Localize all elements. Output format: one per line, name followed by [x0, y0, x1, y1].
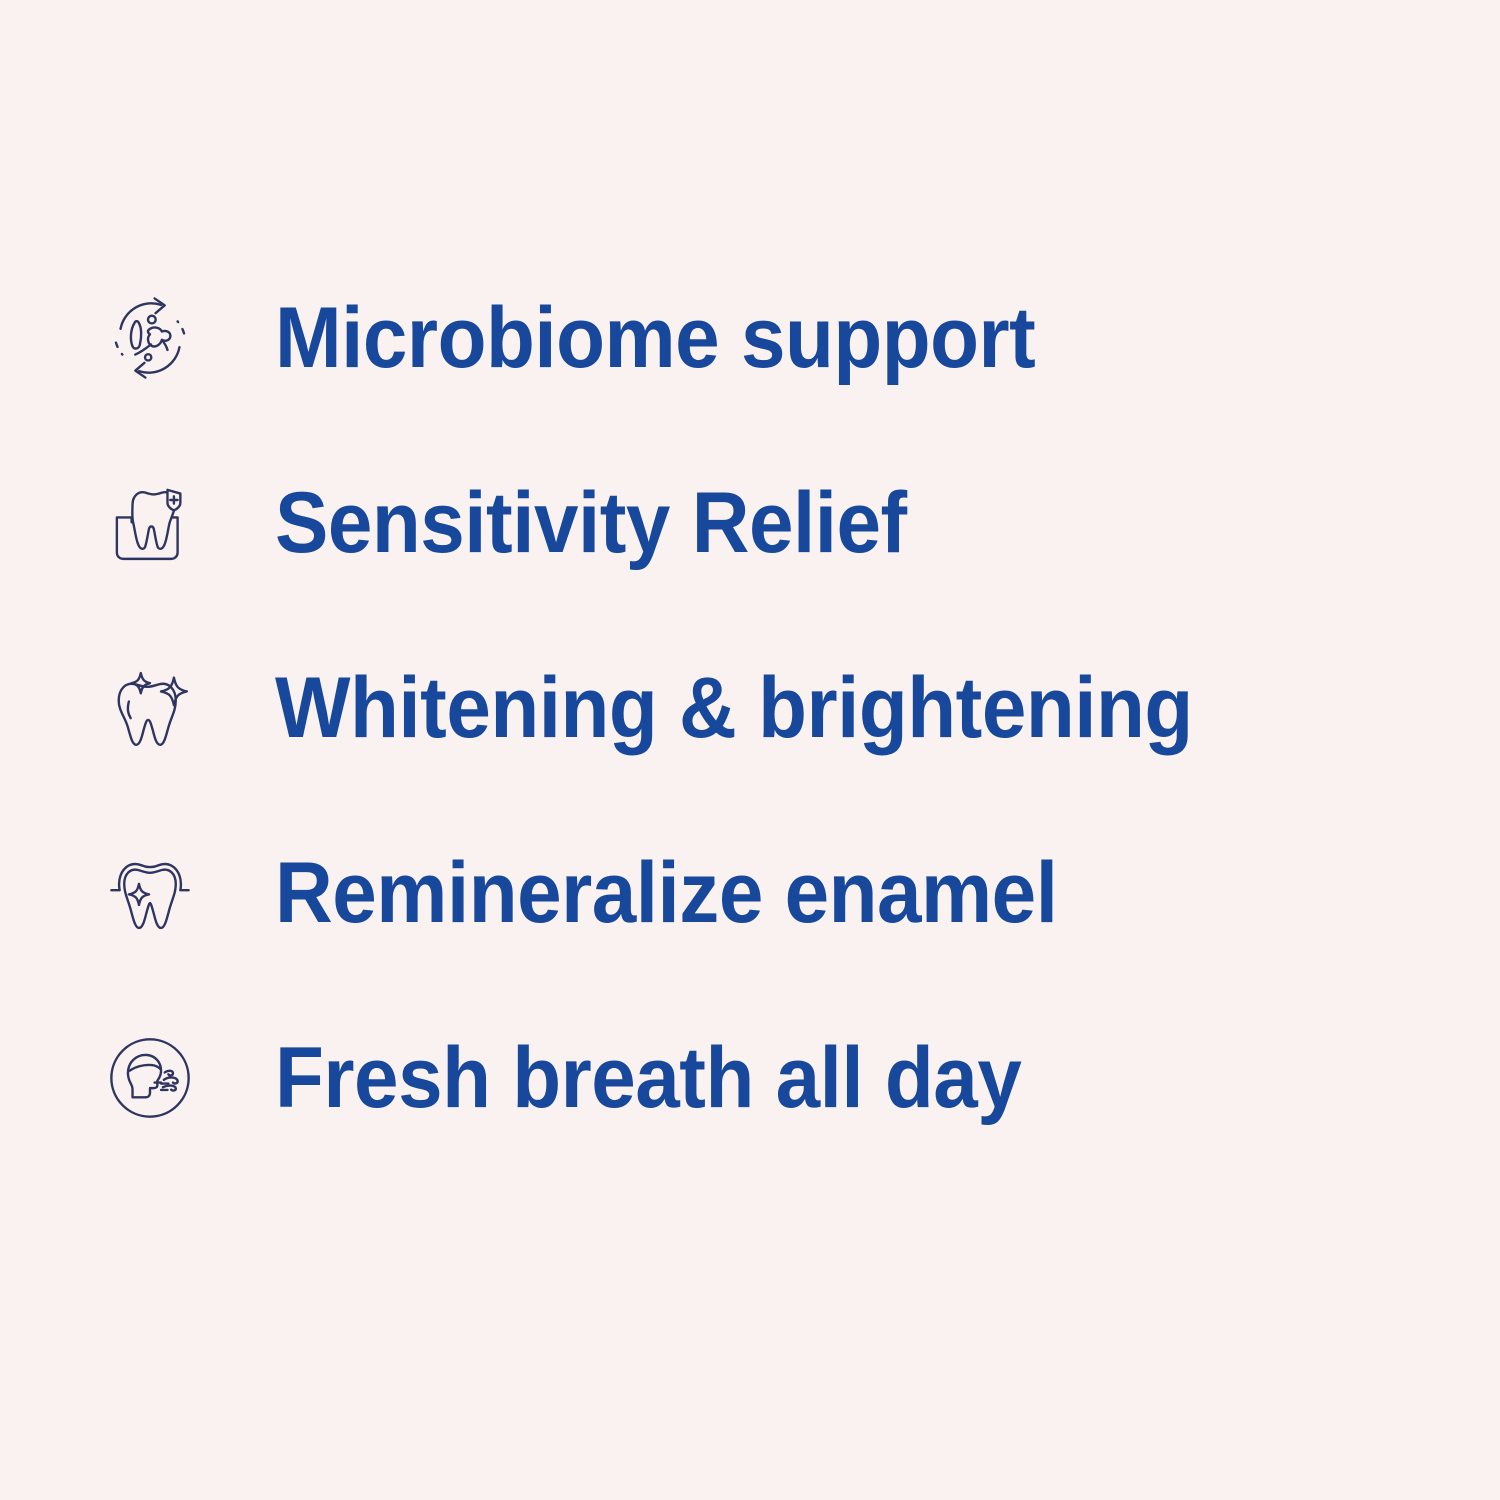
tooth-gum-shield-icon — [100, 473, 200, 573]
benefit-item-microbiome-support: Microbiome support — [100, 283, 1430, 393]
microbiome-cycle-icon — [100, 288, 200, 388]
benefits-panel: Microbiome support Sensitivity Relief — [0, 0, 1500, 1500]
benefit-item-whitening-brightening: Whitening & brightening — [100, 653, 1430, 763]
benefit-label: Fresh breath all day — [275, 1035, 1021, 1121]
benefit-label: Sensitivity Relief — [275, 480, 907, 566]
benefits-list: Microbiome support Sensitivity Relief — [100, 283, 1430, 1133]
benefit-item-remineralize-enamel: Remineralize enamel — [100, 838, 1430, 948]
tooth-enamel-layer-icon — [100, 843, 200, 943]
fresh-breath-head-icon — [100, 1028, 200, 1128]
benefit-label: Microbiome support — [275, 295, 1035, 381]
benefit-label: Whitening & brightening — [275, 665, 1193, 751]
benefit-item-sensitivity-relief: Sensitivity Relief — [100, 468, 1430, 578]
tooth-sparkle-icon — [100, 658, 200, 758]
benefit-item-fresh-breath: Fresh breath all day — [100, 1023, 1430, 1133]
benefit-label: Remineralize enamel — [275, 850, 1057, 936]
